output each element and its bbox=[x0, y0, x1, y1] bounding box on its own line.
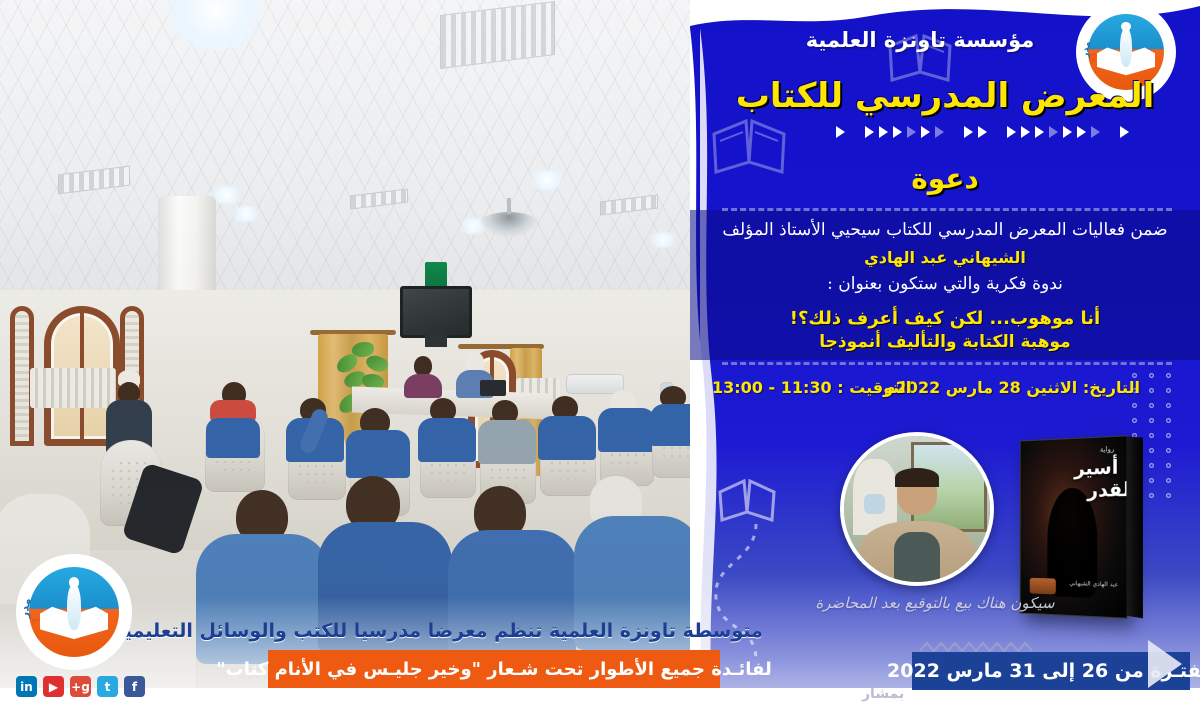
ornament-triangle bbox=[1049, 126, 1058, 138]
poster-root: مدرسة تاونزة العلمية TAWENZA SCIENTIFIC … bbox=[0, 0, 1200, 717]
speaker-head bbox=[414, 356, 432, 376]
ornament-triangle bbox=[865, 126, 874, 138]
laptop bbox=[480, 380, 506, 396]
signing-note: سيكون هناك بيع بالتوقيع بعد المحاضرة bbox=[770, 594, 1100, 612]
author-avatar bbox=[840, 432, 994, 586]
avatar-shirt bbox=[894, 532, 941, 582]
intro-line-2: ندوة فكرية والتي ستكون بعنوان : bbox=[690, 274, 1200, 294]
avatar-hair bbox=[895, 468, 939, 487]
book-title: أسير القدر bbox=[1056, 457, 1119, 503]
play-triangle-decoration bbox=[1148, 640, 1182, 688]
author-name: الشيهاني عبد الهادي bbox=[690, 248, 1200, 267]
main-title: المعرض المدرسي للكتاب bbox=[690, 76, 1200, 116]
ceiling bbox=[0, 0, 710, 300]
book-title-line-1: أسير bbox=[1074, 456, 1118, 480]
event-date: التاريخ: الاثنين 28 مارس 2022م bbox=[884, 378, 1140, 397]
ornament-triangle bbox=[964, 126, 973, 138]
event-time: التوقيت : 11:30 - 13:00 bbox=[712, 378, 911, 397]
student-smock bbox=[538, 416, 596, 460]
student-smock bbox=[478, 420, 536, 464]
bottom-headline: متوسطة تاونزة العلمية تنظم معرضا مدرسيا … bbox=[168, 612, 708, 650]
ornament-triangle bbox=[1063, 126, 1072, 138]
student-smock bbox=[206, 418, 260, 458]
book-kind-label: رواية bbox=[1100, 445, 1114, 454]
zigzag-decoration bbox=[920, 642, 1070, 652]
youtube-icon[interactable]: ▶ bbox=[43, 676, 64, 697]
ornament-triangle bbox=[907, 126, 916, 138]
ornament-triangle bbox=[1021, 126, 1030, 138]
student-smock bbox=[346, 430, 410, 478]
student-smock bbox=[598, 408, 656, 452]
ceiling-light bbox=[645, 232, 681, 248]
ornament-row bbox=[836, 126, 1129, 138]
ornament-triangle bbox=[1007, 126, 1016, 138]
logo-circle: مدرسة تاونزة العلمية TAWENZA SCIENTIFIC … bbox=[18, 556, 130, 668]
lecture-title-line-2: موهبة الكتابة والتأليف أنموذجا bbox=[690, 332, 1200, 352]
ceiling-light bbox=[228, 206, 264, 222]
twitter-icon[interactable]: t bbox=[97, 676, 118, 697]
ornament-triangle bbox=[921, 126, 930, 138]
student-smock bbox=[418, 418, 476, 462]
ceiling-fan bbox=[478, 212, 540, 238]
book-publisher-badge bbox=[1030, 578, 1056, 595]
partner-note: بمشار bbox=[862, 686, 904, 702]
speaker-body bbox=[404, 374, 442, 398]
facebook-icon[interactable]: f bbox=[124, 676, 145, 697]
ornament-triangle bbox=[935, 126, 944, 138]
organization-name: مؤسسة تاونزة العلمية bbox=[690, 28, 1150, 52]
invitation-word: دعوة bbox=[690, 162, 1200, 195]
bottom-white-strip bbox=[0, 688, 1200, 717]
ornament-triangle bbox=[836, 126, 845, 138]
ornament-triangle bbox=[1077, 126, 1086, 138]
divider-dashed-bottom bbox=[722, 362, 1172, 365]
radiator bbox=[30, 368, 116, 408]
ornament-triangle bbox=[1091, 126, 1100, 138]
ceiling-light bbox=[525, 170, 569, 190]
book-spine bbox=[1126, 437, 1142, 619]
svg-text:مدرسة تاونزة العلمية: مدرسة تاونزة العلمية bbox=[18, 556, 34, 619]
ornament-triangle bbox=[1035, 126, 1044, 138]
bottom-subline-banner: لفائـدة جميع الأطوار تحت شـعار "وخير جلي… bbox=[268, 650, 720, 688]
intro-line: ضمن فعاليات المعرض المدرسي للكتاب سيحيي … bbox=[690, 220, 1200, 240]
ornament-triangle bbox=[1120, 126, 1129, 138]
linkedin-icon[interactable]: in bbox=[16, 676, 37, 697]
book-front-cover: رواية أسير القدر عبد الهادي الشيهاني bbox=[1020, 435, 1128, 618]
google-plus-icon[interactable]: g+ bbox=[70, 676, 91, 697]
divider-dashed-top bbox=[722, 208, 1172, 211]
social-links[interactable]: f t g+ ▶ in bbox=[16, 676, 145, 697]
tv-screen bbox=[400, 286, 472, 338]
ornament-triangle bbox=[879, 126, 888, 138]
ornament-triangle bbox=[893, 126, 902, 138]
logo-arabic-text: مدرسة تاونزة العلمية bbox=[18, 556, 34, 619]
speaker-head bbox=[466, 352, 484, 372]
school-logo-bottom: مدرسة تاونزة العلمية TAWENZA SCIENTIFIC … bbox=[18, 556, 130, 668]
lecture-title-line-1: أنا موهوب... لكن كيف أعرف ذلك؟! bbox=[690, 308, 1200, 329]
book-mockup: رواية أسير القدر عبد الهادي الشيهاني bbox=[1020, 435, 1128, 618]
logo-ring-text: مدرسة تاونزة العلمية TAWENZA SCIENTIFIC … bbox=[18, 556, 130, 668]
ornament-triangle bbox=[978, 126, 987, 138]
